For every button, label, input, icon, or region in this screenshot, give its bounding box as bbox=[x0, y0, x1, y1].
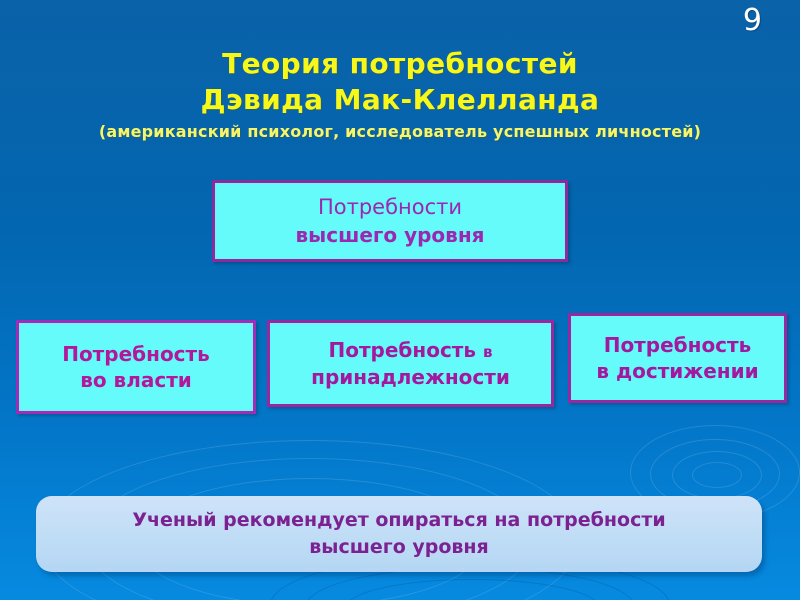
higher-level-needs-line1: Потребности bbox=[318, 194, 462, 222]
need-achievement-line2: в достижении bbox=[596, 358, 758, 384]
need-achievement-box: Потребность в достижении bbox=[568, 313, 787, 403]
need-power-box: Потребность во власти bbox=[16, 320, 256, 414]
need-belonging-box: Потребность в принадлежности bbox=[267, 320, 554, 407]
recommendation-line1: Ученый рекомендует опираться на потребно… bbox=[132, 507, 665, 534]
higher-level-needs-box: Потребности высшего уровня bbox=[212, 180, 568, 262]
need-power-line2: во власти bbox=[80, 367, 192, 393]
need-belonging-line1: Потребность в bbox=[328, 337, 492, 363]
need-power-line1: Потребность bbox=[62, 341, 210, 367]
higher-level-needs-line2: высшего уровня bbox=[296, 222, 485, 248]
page-number: 9 bbox=[743, 6, 762, 36]
recommendation-line2: высшего уровня bbox=[309, 534, 489, 561]
need-achievement-line1: Потребность bbox=[604, 332, 752, 358]
title-block: Теория потребностей Дэвида Мак-Клелланда… bbox=[0, 46, 800, 141]
need-belonging-main: Потребность bbox=[328, 338, 476, 362]
slide-canvas: 9 Теория потребностей Дэвида Мак-Клеллан… bbox=[0, 0, 800, 600]
page-title-line2: Дэвида Мак-Клелланда bbox=[0, 82, 800, 118]
recommendation-callout: Ученый рекомендует опираться на потребно… bbox=[36, 496, 762, 572]
need-belonging-line2: принадлежности bbox=[311, 364, 510, 390]
need-belonging-preposition: в bbox=[483, 343, 493, 361]
page-subtitle: (американский психолог, исследователь ус… bbox=[0, 122, 800, 141]
page-title-line1: Теория потребностей bbox=[0, 46, 800, 82]
